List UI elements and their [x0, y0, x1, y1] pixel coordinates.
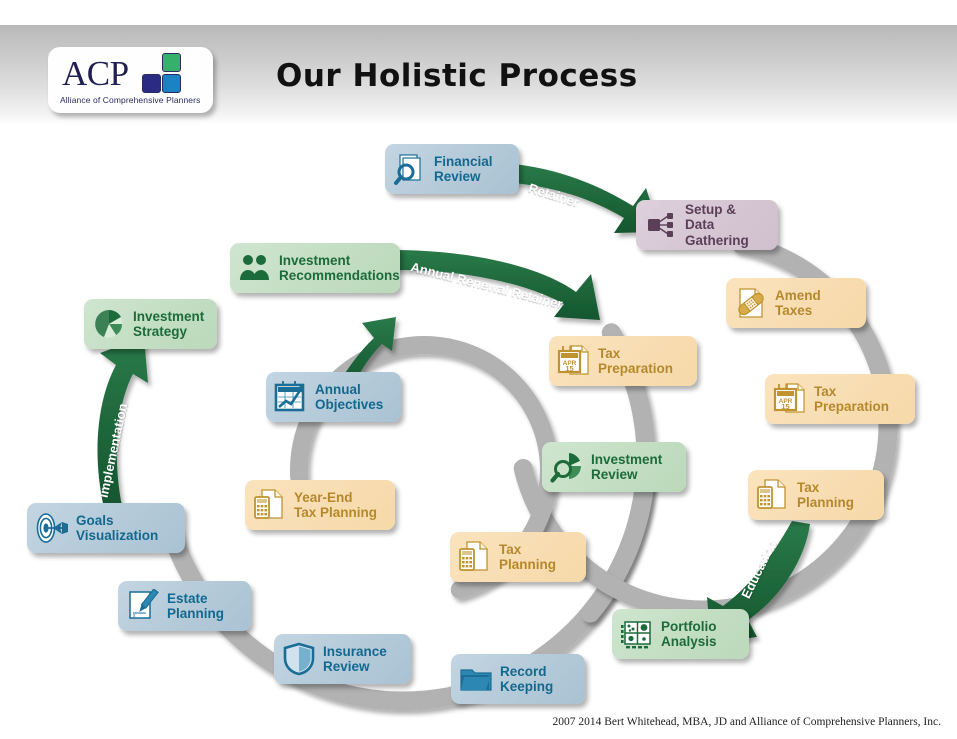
node-label: Year-End Tax Planning [294, 490, 377, 521]
node-annual-objectives[interactable]: Annual Objectives [266, 372, 401, 422]
node-amend-taxes[interactable]: Amend Taxes [726, 278, 866, 328]
folder-icon [459, 662, 493, 696]
node-label: Financial Review [434, 154, 493, 185]
arrow-annual-renewal-retainer [392, 250, 600, 320]
calculator-document-icon [756, 478, 790, 512]
node-label: Investment Strategy [133, 309, 204, 340]
node-label: Investment Review [591, 452, 662, 483]
node-financial-review[interactable]: Financial Review [385, 144, 519, 194]
node-label: Annual Objectives [315, 382, 383, 413]
node-label: Goals Visualization [76, 513, 158, 544]
target-dart-icon [35, 511, 69, 545]
node-label: Estate Planning [167, 591, 224, 622]
copyright-footer: 2007 2014 Bert Whitehead, MBA, JD and Al… [0, 716, 941, 728]
pie-magnifier-icon [550, 450, 584, 484]
node-investment-review[interactable]: Investment Review [542, 442, 686, 492]
calculator-document-icon [253, 488, 287, 522]
node-label: Tax Planning [797, 480, 854, 511]
node-tax-preparation-center[interactable]: APR 15Tax Preparation [549, 336, 697, 386]
matrix-dots-icon [620, 617, 654, 651]
node-label: Tax Preparation [598, 346, 673, 377]
calendar-trend-icon [274, 380, 308, 414]
calculator-document-icon [458, 540, 492, 574]
node-label: Amend Taxes [775, 288, 821, 319]
node-investment-recommendations[interactable]: Investment Recommendations [230, 243, 400, 293]
node-label: Setup & Data Gathering [685, 202, 768, 249]
arrow-implementation [98, 337, 148, 508]
node-record-keeping[interactable]: Record Keeping [451, 654, 585, 704]
two-people-icon [238, 251, 272, 285]
node-goals-visualization[interactable]: Goals Visualization [27, 503, 185, 553]
node-portfolio-analysis[interactable]: Portfolio Analysis [612, 609, 749, 659]
documents-magnifier-icon [393, 152, 427, 186]
node-investment-strategy[interactable]: Investment Strategy [84, 299, 217, 349]
node-label: Investment Recommendations [279, 253, 400, 284]
apr15-calendar-icon: APR 15 [557, 344, 591, 378]
node-label: Record Keeping [500, 664, 553, 695]
node-label: Tax Preparation [814, 384, 889, 415]
apr15-calendar-icon: APR 15 [773, 382, 807, 416]
node-tax-planning-center[interactable]: Tax Planning [450, 532, 586, 582]
document-pen-icon: x [126, 589, 160, 623]
documents-magnifier-icon [393, 152, 427, 186]
node-label: Portfolio Analysis [661, 619, 717, 650]
calculator-document-icon [253, 488, 287, 522]
network-nodes-icon [644, 208, 678, 242]
apr15-calendar-icon: APR 15 [773, 382, 807, 416]
pie-chart-icon [92, 307, 126, 341]
bandage-document-icon [734, 286, 768, 320]
diagram-canvas: ACP Alliance of Comprehensive Planners O… [0, 0, 957, 739]
node-tax-planning-right[interactable]: Tax Planning [748, 470, 884, 520]
svg-text:15: 15 [781, 402, 789, 411]
pie-magnifier-icon [550, 450, 584, 484]
node-year-end-tax-planning[interactable]: Year-End Tax Planning [245, 480, 395, 530]
network-nodes-icon [644, 208, 678, 242]
target-dart-icon [35, 511, 69, 545]
calculator-document-icon [756, 478, 790, 512]
node-tax-preparation-right[interactable]: APR 15Tax Preparation [765, 374, 915, 424]
matrix-dots-icon [620, 617, 654, 651]
shield-icon [282, 642, 316, 676]
calendar-trend-icon [274, 380, 308, 414]
node-setup-data-gathering[interactable]: Setup & Data Gathering [636, 200, 778, 250]
node-estate-planning[interactable]: x Estate Planning [118, 581, 251, 631]
svg-text:15: 15 [565, 364, 573, 373]
node-label: Tax Planning [499, 542, 556, 573]
node-label: Insurance Review [323, 644, 387, 675]
shield-icon [282, 642, 316, 676]
folder-icon [459, 662, 493, 696]
apr15-calendar-icon: APR 15 [557, 344, 591, 378]
bandage-document-icon [734, 286, 768, 320]
pie-chart-icon [92, 307, 126, 341]
two-people-icon [238, 251, 272, 285]
calculator-document-icon [458, 540, 492, 574]
node-insurance-review[interactable]: Insurance Review [274, 634, 411, 684]
document-pen-icon: x [126, 589, 160, 623]
